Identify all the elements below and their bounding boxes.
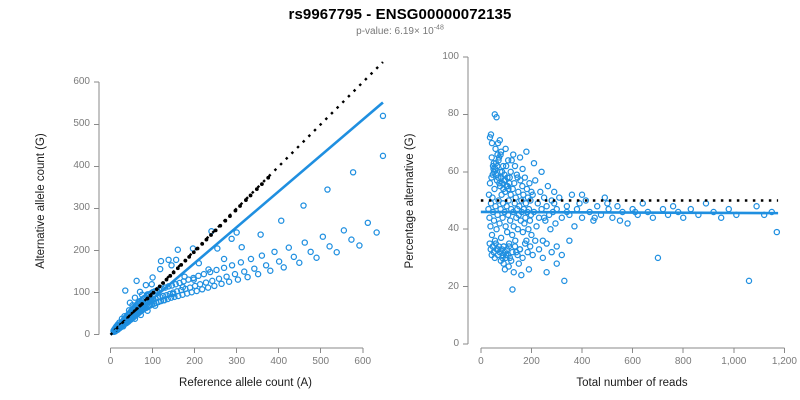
data-points [111, 113, 386, 334]
y-axis-title-left: Alternative allele count (G) [35, 133, 47, 269]
panel-reference-vs-alternative: 01002003004005006000100200300400500600 A… [0, 0, 400, 400]
x-tick-label: 1,200 [754, 357, 800, 367]
y-tick-label: 80 [409, 109, 459, 119]
y-tick-label: 100 [409, 52, 459, 62]
scatter-plot-left [0, 0, 400, 400]
y-tick-label: 500 [40, 119, 90, 129]
y-tick-label: 100 [40, 288, 90, 298]
y-tick-label: 0 [409, 339, 459, 349]
y-tick-label: 600 [40, 77, 90, 87]
y-tick-label: 0 [40, 330, 90, 340]
y-tick-label: 400 [40, 161, 90, 171]
identity-marker-points [114, 176, 270, 332]
mean-percentage-line [481, 212, 778, 213]
x-tick-label: 600 [333, 357, 393, 367]
x-axis-title-right: Total number of reads [482, 377, 782, 389]
y-tick-label: 300 [40, 203, 90, 213]
scatter-plot-right [400, 0, 800, 400]
data-points [486, 112, 780, 292]
y-tick-label: 20 [409, 282, 459, 292]
y-tick-label: 40 [409, 224, 459, 234]
identity-line [111, 62, 383, 335]
y-tick-label: 60 [409, 167, 459, 177]
y-tick-label: 200 [40, 246, 90, 256]
panel-reads-vs-percentage: 02004006008001,0001,200020406080100 Perc… [400, 0, 800, 400]
y-axis-title-right: Percentage alternative (G) [404, 133, 416, 268]
figure-root: rs9967795 - ENSG00000072135 p-value: 6.1… [0, 0, 800, 400]
regression-line [111, 102, 383, 334]
x-axis-title-left: Reference allele count (A) [96, 377, 396, 389]
